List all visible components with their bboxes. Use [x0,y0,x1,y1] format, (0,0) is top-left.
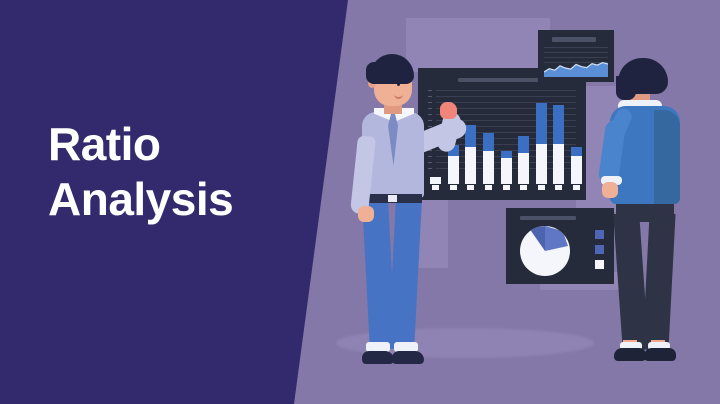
slide-canvas: Ratio Analysis [0,0,720,404]
bar-lower-segment [553,144,564,184]
presenter-leg-right [388,201,422,349]
bar-column [553,90,564,190]
observer-figure [596,54,700,350]
bar-lower-segment [536,144,547,184]
bar-lower-segment [448,156,459,184]
bar-pedestal [520,185,527,190]
bar-lower-segment [483,151,494,184]
presenter-eyebrow [394,78,404,80]
observer-sweater-shadow [654,110,680,204]
bar-column [465,90,476,190]
table-row [501,151,512,184]
pie-slice-segment-b [520,226,570,276]
board-text-line [544,52,608,53]
bar-upper-segment [483,133,494,150]
bar-upper-segment [501,151,512,158]
title-line-2: Analysis [48,173,304,226]
observer-hand [602,182,618,198]
bar-pedestal [485,185,492,190]
title-line-1: Ratio [48,118,304,171]
presenter-sideburn [366,62,382,84]
presenter-hand-left [358,206,374,222]
bar-column [571,90,582,190]
presenter-shoe-left [362,351,394,364]
bar-column [536,90,547,190]
bar-upper-segment [518,136,529,153]
bar-pedestal [573,185,580,190]
bar-pedestal [450,185,457,190]
presenter-hand-right [440,102,457,119]
area-board-title-bar [552,37,596,42]
bar-pedestal [503,185,510,190]
bar-pedestal [467,185,474,190]
board-text-line [544,47,608,48]
bar-upper-segment [465,125,476,147]
table-row [518,136,529,184]
bar-lower-segment [571,156,582,184]
board-header-line [458,78,550,82]
presenter-eye [397,83,400,86]
observer-shoe-right [644,348,676,361]
bar-upper-segment [553,105,564,144]
page-title: Ratio Analysis [48,118,304,227]
observer-hair [618,58,668,94]
table-row [571,147,582,184]
bar-column [501,90,512,190]
presenter-shoe-right [392,351,424,364]
bar-lower-segment [518,153,529,184]
bar-pedestal [555,185,562,190]
presenter-figure [336,54,446,350]
bar-column [483,90,494,190]
pie-board-title-bar [520,216,576,220]
bar-lower-segment [465,147,476,184]
observer-shoe-left [614,348,646,361]
bar-upper-segment [536,103,547,143]
bar-column [518,90,529,190]
bar-upper-segment [571,147,582,156]
pie-chart [520,226,570,276]
bar-pedestal [538,185,545,190]
table-row [553,105,564,184]
bar-lower-segment [501,158,512,184]
table-row [465,125,476,184]
table-row [536,103,547,184]
presenter-belt-buckle [388,195,397,202]
table-row [483,133,494,184]
observer-leg-right [642,214,675,350]
